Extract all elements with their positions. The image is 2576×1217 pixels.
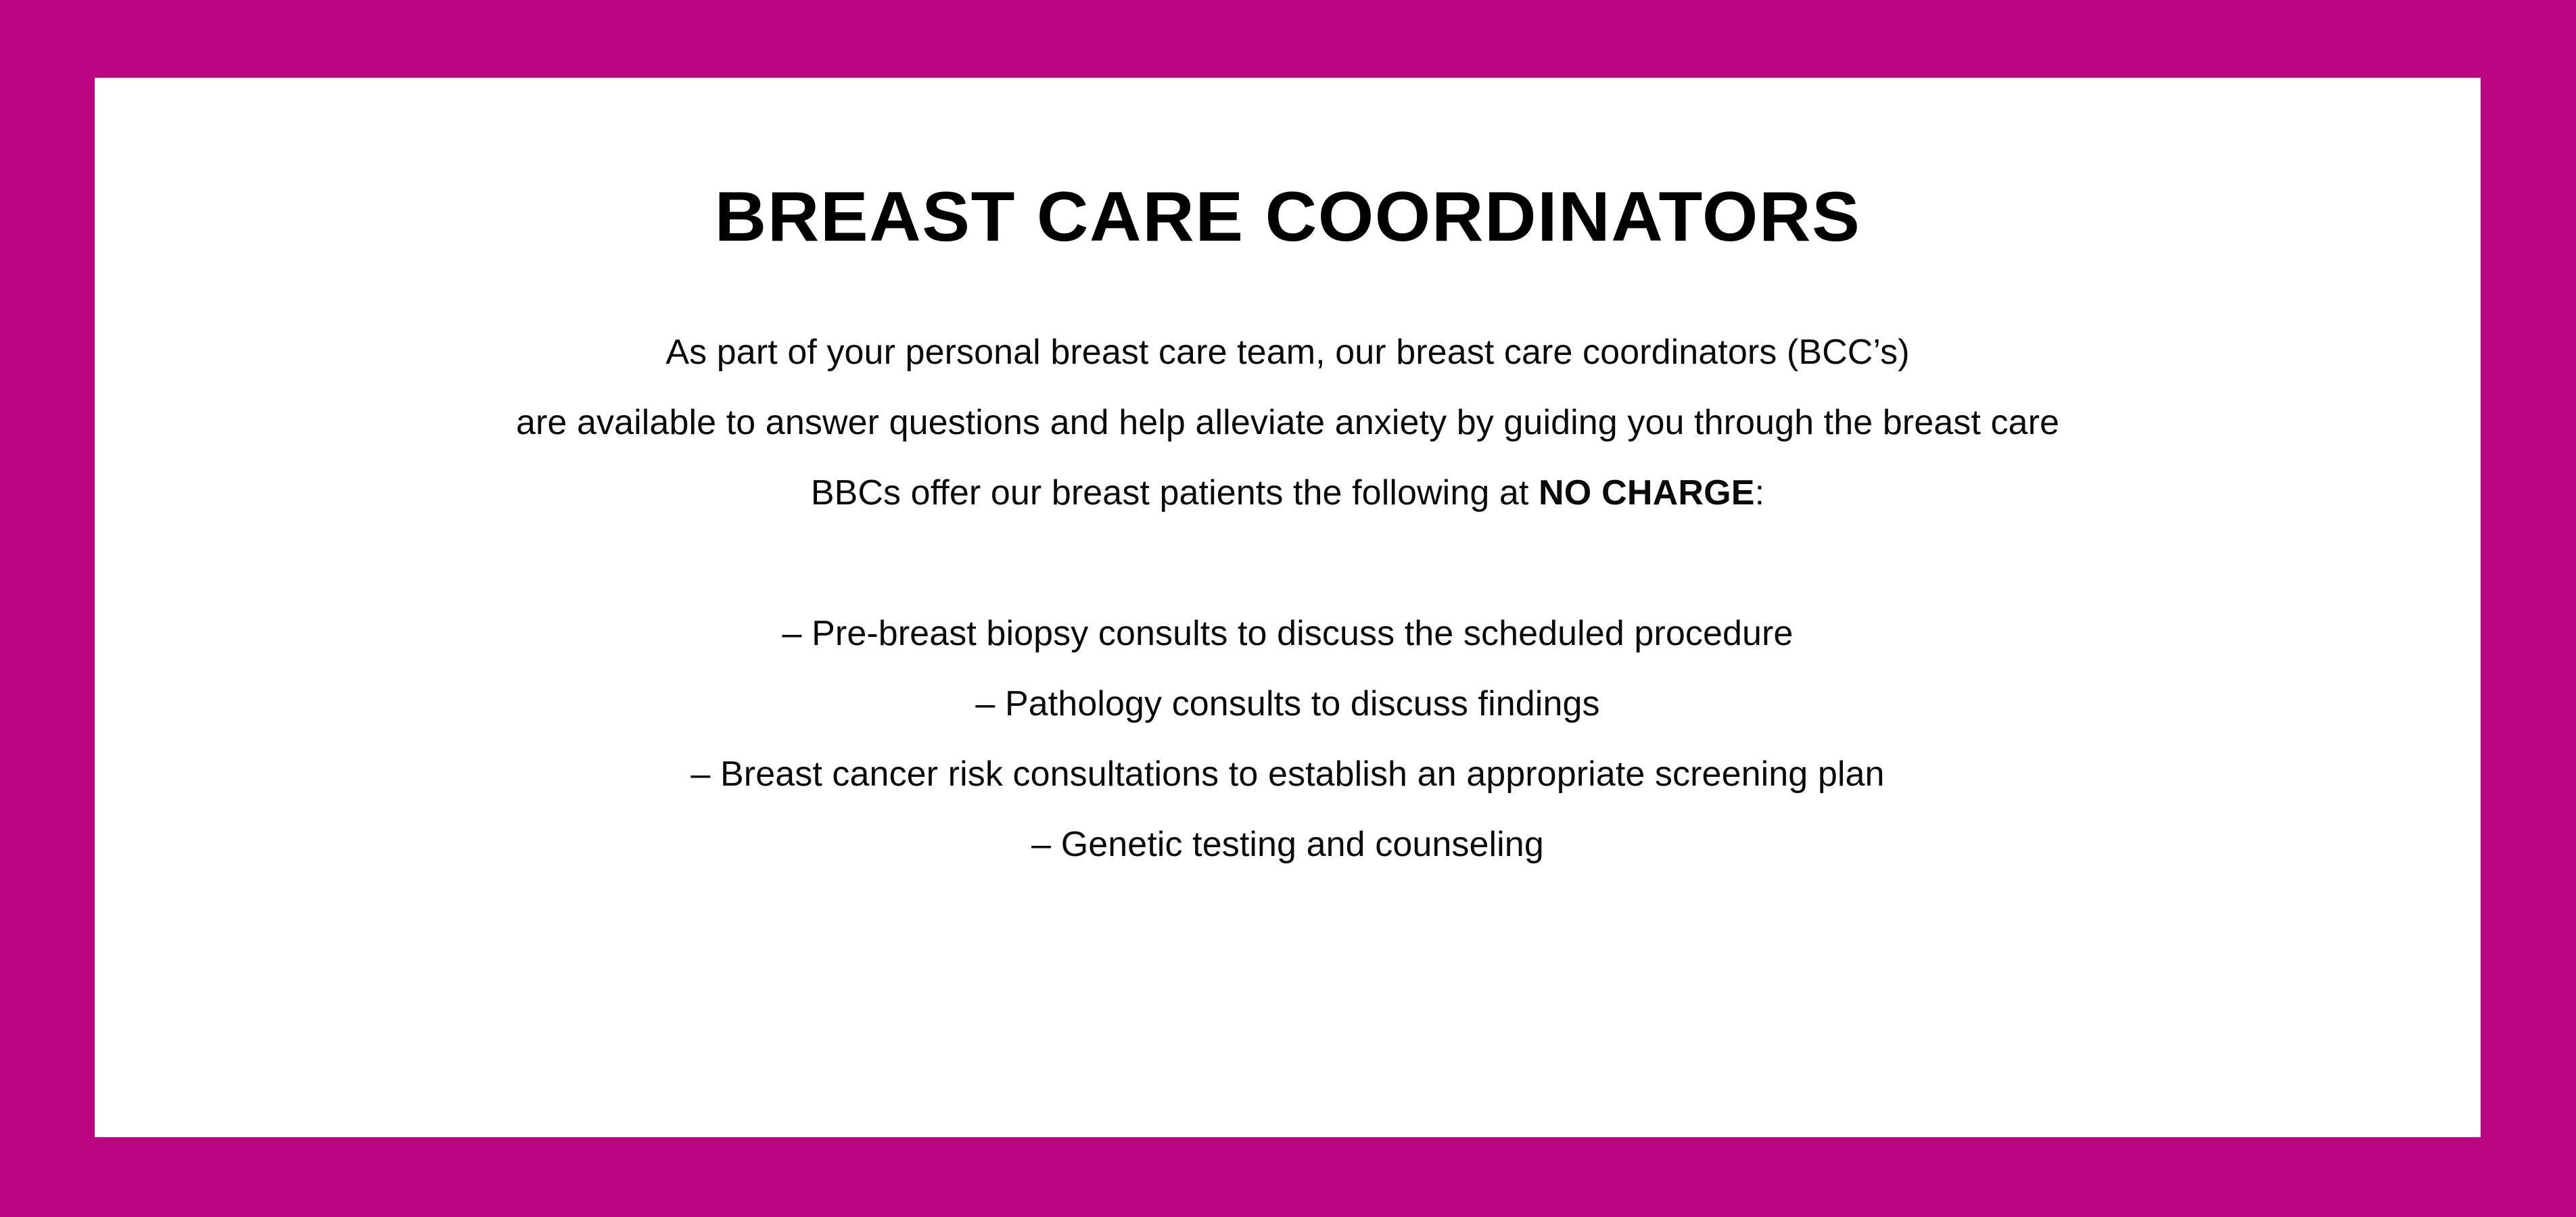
intro-line-3-prefix: BBCs offer our breast patients the follo… [811, 473, 1539, 512]
no-charge-emphasis: NO CHARGE [1539, 473, 1755, 512]
intro-line-2: are available to answer questions and he… [95, 387, 2481, 458]
page-title: BREAST CARE COORDINATORS [71, 78, 2505, 252]
slide-canvas: BREAST CARE COORDINATORS As part of your… [0, 0, 2576, 1217]
content-panel: BREAST CARE COORDINATORS As part of your… [95, 78, 2481, 1137]
intro-line-1: As part of your personal breast care tea… [95, 317, 2481, 387]
intro-line-3-suffix: : [1755, 473, 1765, 512]
list-item: – Pre-breast biopsy consults to discuss … [95, 598, 2481, 669]
list-item: – Pathology consults to discuss findings [95, 669, 2481, 739]
intro-line-3: BBCs offer our breast patients the follo… [95, 458, 2481, 528]
list-item: – Breast cancer risk consultations to es… [95, 739, 2481, 809]
services-list: – Pre-breast biopsy consults to discuss … [95, 528, 2481, 880]
intro-paragraph: As part of your personal breast care tea… [95, 252, 2481, 528]
list-item: – Genetic testing and counseling [95, 809, 2481, 880]
content-wrapper: BREAST CARE COORDINATORS As part of your… [95, 78, 2481, 880]
